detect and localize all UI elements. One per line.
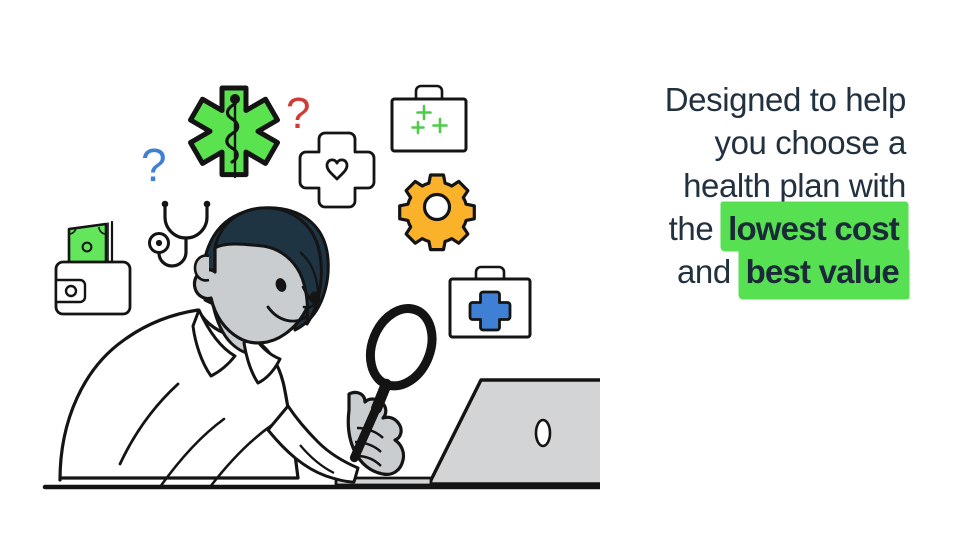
first-aid-kit-green-icon	[392, 86, 466, 151]
gear-icon	[400, 175, 475, 250]
headline-line-4: the lowest cost	[586, 207, 906, 250]
star-of-life-icon	[191, 88, 278, 177]
question-mark-blue-icon: ?	[141, 139, 167, 191]
poster-canvas: ? ?	[0, 0, 960, 540]
headline-line-4-prefix: the	[669, 210, 722, 247]
first-aid-kit-blue-icon	[450, 267, 530, 337]
highlight-best-value: best value	[740, 252, 906, 291]
headline-line-5-prefix: and	[677, 253, 740, 290]
health-plan-illustration: ? ?	[0, 0, 600, 540]
headline-line-2: you choose a	[586, 121, 906, 164]
headline-line-1: Designed to help	[586, 78, 906, 121]
wallet-with-money-icon	[56, 222, 130, 314]
highlight-lowest-cost: lowest cost	[722, 209, 906, 248]
headline-line-3: health plan with	[586, 164, 906, 207]
headline-line-5: and best value	[586, 250, 906, 293]
medical-cross-heart-icon	[300, 133, 374, 207]
svg-text:?: ?	[286, 89, 310, 138]
question-mark-red-icon: ?	[286, 89, 310, 138]
svg-text:?: ?	[141, 139, 167, 191]
headline: Designed to help you choose a health pla…	[586, 78, 906, 293]
